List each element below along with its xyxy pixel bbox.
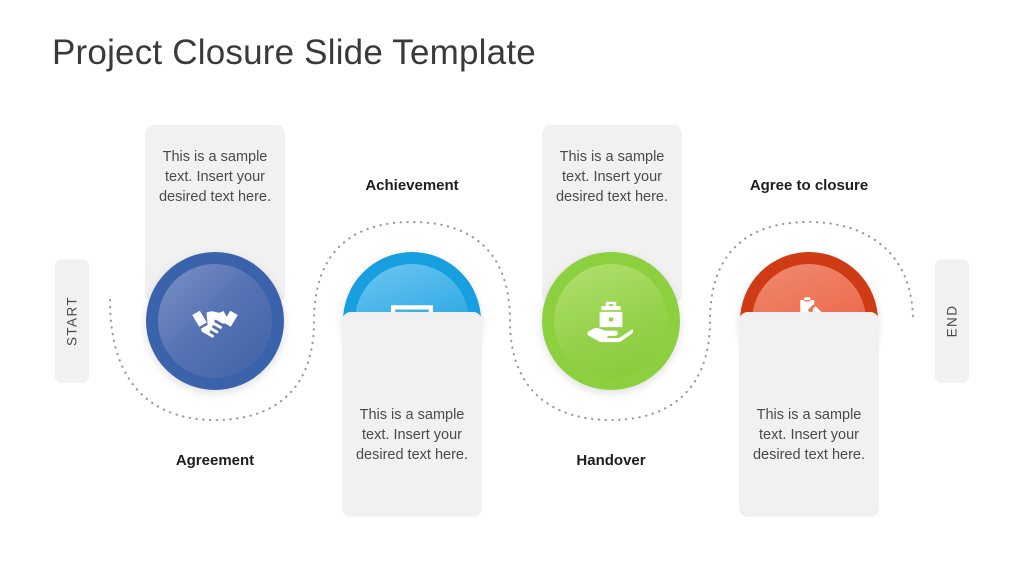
step-2-text-panel[interactable]: This is a sample text. Insert your desir… — [342, 312, 482, 517]
step-3-node-inner — [554, 264, 668, 378]
step-3-body-text: This is a sample text. Insert your desir… — [548, 147, 676, 207]
end-endcap: END — [935, 259, 969, 383]
start-endcap: START — [55, 259, 89, 383]
step-1-node[interactable] — [146, 252, 284, 390]
step-1-body-text: This is a sample text. Insert your desir… — [151, 147, 279, 207]
step-2-label: Achievement — [327, 176, 497, 196]
step-1-node-inner — [158, 264, 272, 378]
step-3-node[interactable] — [542, 252, 680, 390]
handshake-icon — [187, 293, 243, 349]
step-1-label: Agreement — [130, 451, 300, 471]
step-4-text-panel[interactable]: This is a sample text. Insert your desir… — [739, 312, 879, 517]
page-title: Project Closure Slide Template — [52, 33, 536, 73]
slide-canvas: Project Closure Slide Template START END… — [0, 0, 1024, 576]
step-2-body-text: This is a sample text. Insert your desir… — [348, 405, 476, 465]
step-3-label: Handover — [526, 451, 696, 471]
end-endcap-label: END — [945, 305, 960, 338]
step-4-label: Agree to closure — [724, 176, 894, 196]
start-endcap-label: START — [65, 296, 80, 346]
step-4-body-text: This is a sample text. Insert your desir… — [745, 405, 873, 465]
briefcase-on-hand-icon — [583, 293, 639, 349]
step-4-label-text: Agree to closure — [750, 177, 868, 194]
